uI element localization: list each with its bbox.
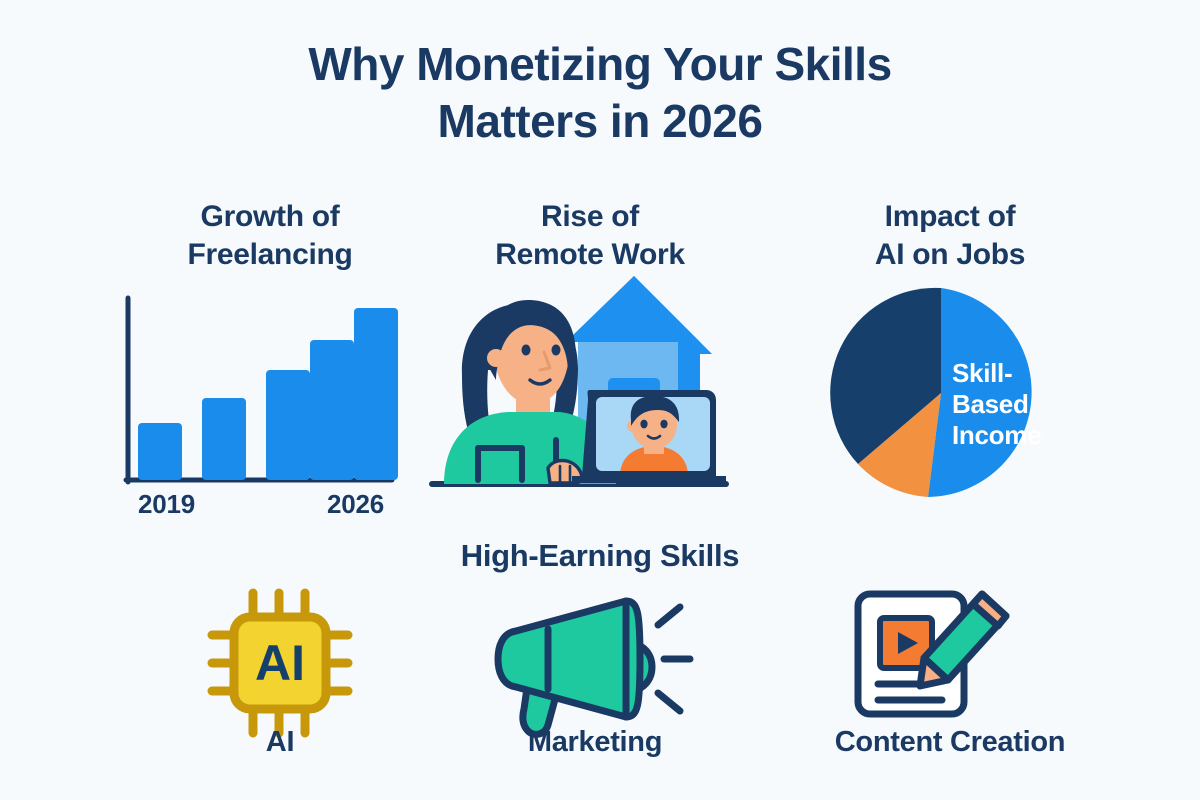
heading-ai-line-1: Impact of [790,198,1110,236]
skill-label-content-creation: Content Creation [740,726,1160,759]
megaphone-sound-waves [658,607,690,711]
pie-label-line-1: Skill- [952,358,1062,389]
section-heading-ai-on-jobs: Impact of AI on Jobs [790,198,1110,275]
megaphone-band [626,601,640,717]
laptop-icon [572,390,726,483]
megaphone-cone [498,601,626,717]
remote-work-svg [430,280,740,505]
bar-1 [138,423,182,480]
heading-freelancing-line-2: Freelancing [110,236,430,274]
remote-work-illustration [430,280,740,505]
woman-eye-left [522,345,531,356]
pie-slice-label: Skill- Based Income [952,358,1062,452]
heading-freelancing-line-1: Growth of [110,198,430,236]
woman-ear [487,349,505,367]
house-roof-fill [568,276,700,342]
section-heading-remote-work: Rise of Remote Work [430,198,750,275]
section-heading-freelancing: Growth of Freelancing [110,198,430,275]
chip-label: AI [255,635,305,691]
page-title-line-1: Why Monetizing Your Skills [0,36,1200,93]
page-title-line-2: Matters in 2026 [0,93,1200,150]
man-eye-right [660,420,667,429]
woman-eye-right [552,345,561,356]
infographic-page: Why Monetizing Your Skills Matters in 20… [0,0,1200,800]
skill-label-ai: AI [180,726,380,759]
skill-label-marketing: Marketing [470,726,720,759]
bar-3 [266,370,310,480]
bar-4 [310,340,354,480]
bar-2 [202,398,246,480]
heading-remote-line-2: Remote Work [430,236,750,274]
heading-remote-line-1: Rise of [430,198,750,236]
bar-chart-x-tick-end: 2026 [327,489,384,520]
pie-label-line-3: Income [952,420,1062,451]
bar-5 [354,308,398,480]
bar-chart-x-tick-start: 2019 [138,489,195,520]
laptop-base [572,476,726,483]
heading-ai-line-2: AI on Jobs [790,236,1110,274]
section-heading-high-earning-skills: High-Earning Skills [390,538,810,574]
man-eye-left [640,420,647,429]
page-title: Why Monetizing Your Skills Matters in 20… [0,36,1200,150]
pie-label-line-2: Based [952,389,1062,420]
